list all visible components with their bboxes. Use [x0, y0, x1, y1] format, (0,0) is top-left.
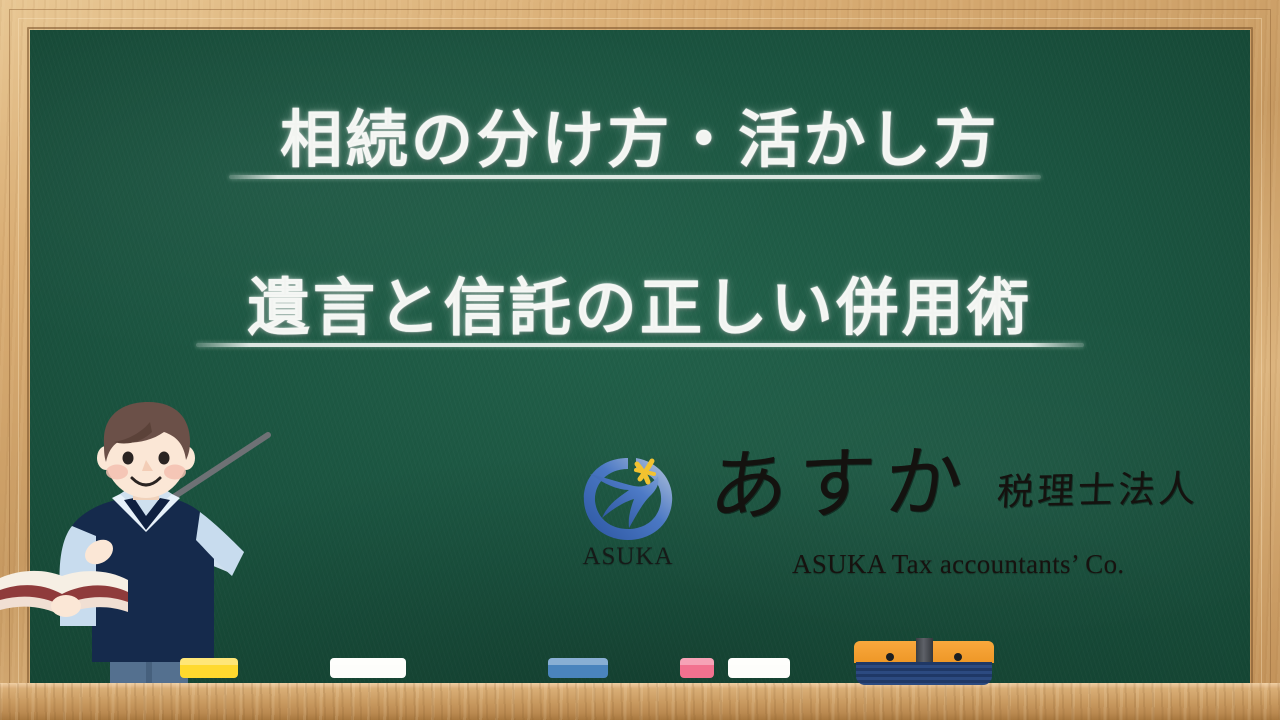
logo-corporate-jp: 税理士法人	[996, 468, 1200, 514]
eraser-dot-right	[954, 653, 962, 661]
tray-wood-grain	[0, 683, 1280, 720]
blackboard-eraser[interactable]	[854, 641, 994, 685]
eraser-felt	[856, 662, 992, 685]
teacher-illustration	[0, 400, 330, 720]
logo-brush-name: あすか	[707, 439, 975, 530]
asuka-bird-mark-icon	[574, 446, 682, 546]
chalk-pink[interactable]	[680, 658, 714, 678]
chalk-white-1[interactable]	[330, 658, 406, 678]
eraser-dot-left	[886, 653, 894, 661]
company-logo-block: ASUKA あすか 税理士法人 ASUKA Tax accountants’ C…	[560, 444, 1240, 590]
chalk-tray	[0, 683, 1280, 720]
chalkboard-slide: 相続の分け方・活かし方 遺言と信託の正しい併用術	[0, 0, 1280, 720]
logo-corporate-en: ASUKA Tax accountants’ Co.	[792, 549, 1125, 580]
chalk-blue[interactable]	[548, 658, 608, 678]
logo-mark-label: ASUKA	[560, 543, 696, 571]
chalk-yellow[interactable]	[180, 658, 238, 678]
chalk-white-2[interactable]	[728, 658, 790, 678]
eraser-strap	[916, 638, 933, 664]
page-title-line-1: 相続の分け方・活かし方	[0, 104, 1280, 176]
title-underline-1	[229, 175, 1041, 179]
page-title-line-2: 遺言と信託の正しい併用術	[0, 272, 1280, 344]
title-underline-2	[196, 343, 1084, 347]
